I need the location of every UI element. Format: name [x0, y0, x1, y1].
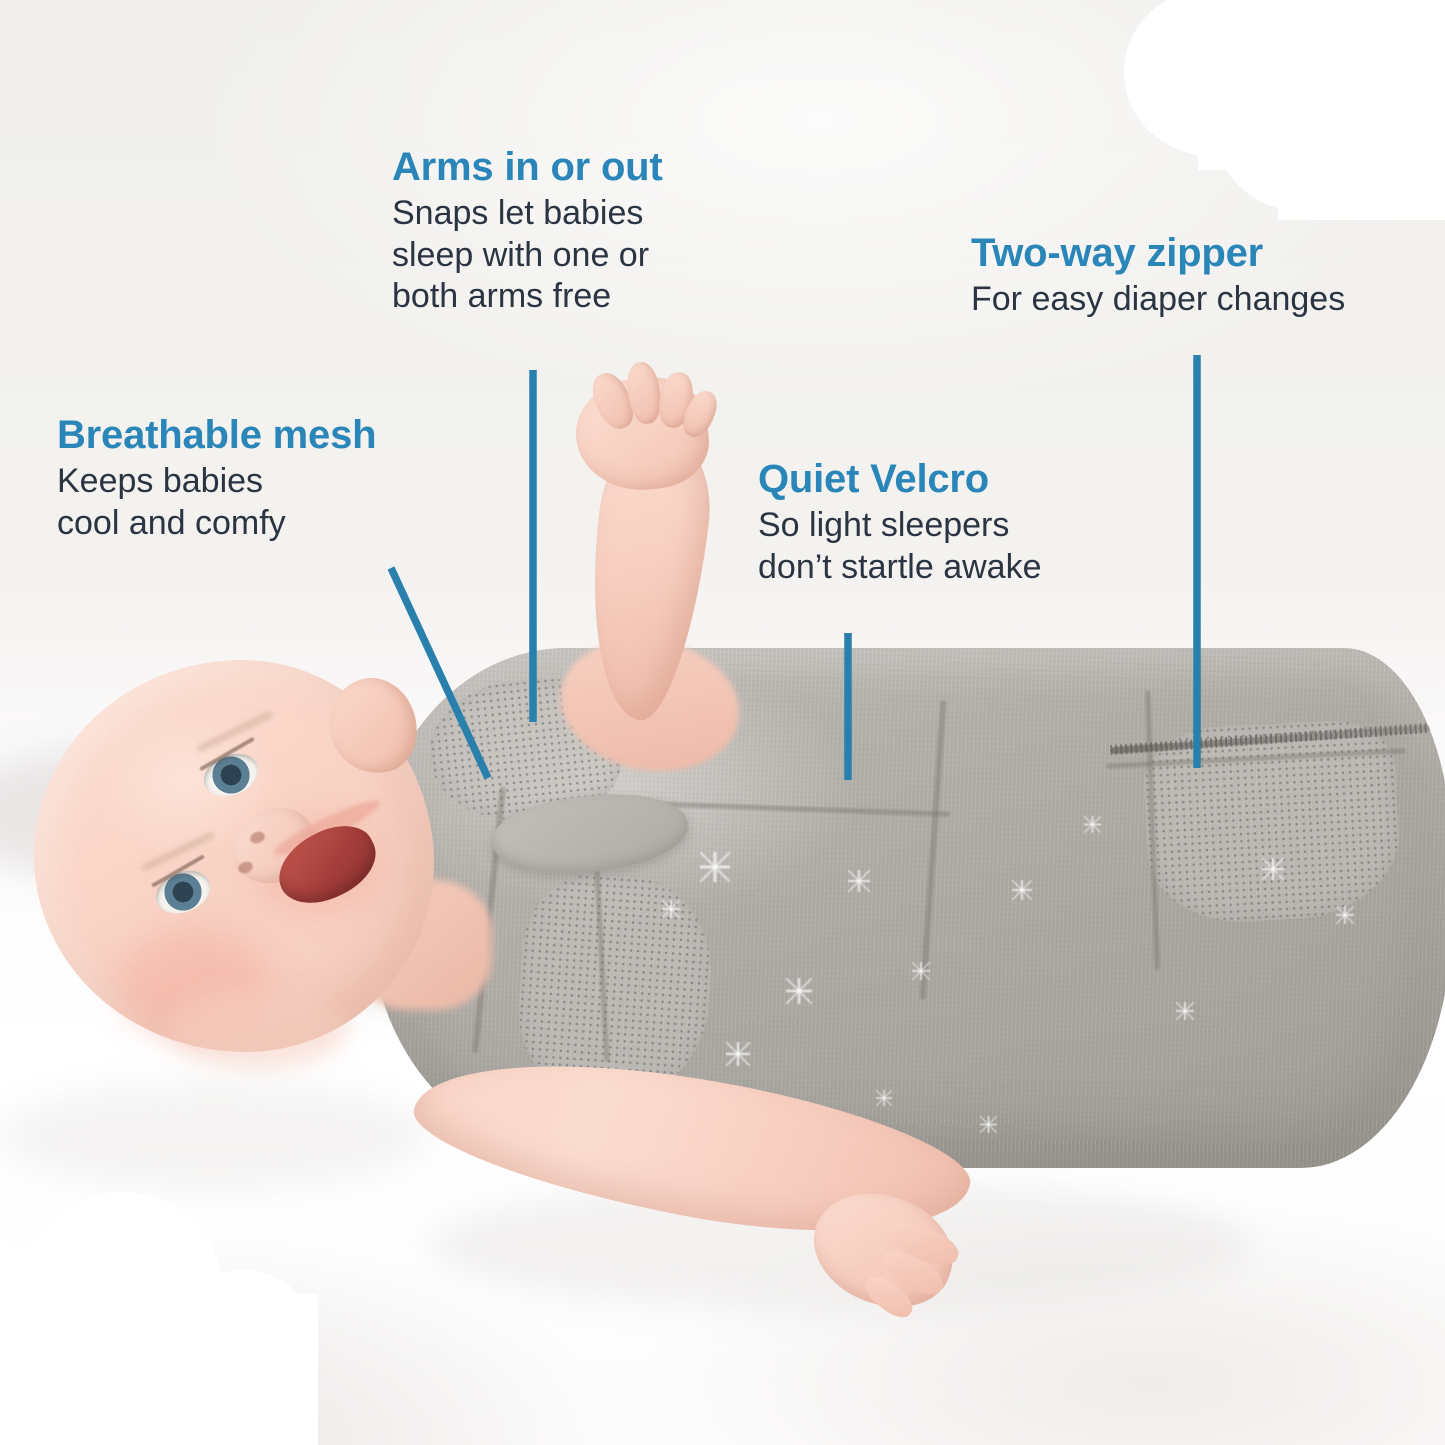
callout-body-line: don’t startle awake — [758, 547, 1042, 588]
callout-body-line: Keeps babies — [57, 461, 376, 502]
callout-body: Snaps let babies sleep with one or both … — [392, 193, 663, 317]
bedding-fold — [0, 1080, 430, 1190]
callout-body-line: both arms free — [392, 276, 663, 317]
callout-two-way-zipper: Two-way zipper For easy diaper changes — [971, 232, 1345, 321]
callout-body: So light sleepers don’t startle awake — [758, 505, 1042, 588]
callout-body-line: For easy diaper changes — [971, 279, 1345, 320]
callout-quiet-velcro: Quiet Velcro So light sleepers don’t sta… — [758, 458, 1042, 588]
callout-title: Two-way zipper — [971, 232, 1345, 275]
callout-body-line: sleep with one or — [392, 235, 663, 276]
callout-title: Arms in or out — [392, 146, 663, 189]
callout-body: For easy diaper changes — [971, 279, 1345, 320]
callout-body-line: cool and comfy — [57, 503, 376, 544]
callout-title: Breathable mesh — [57, 414, 376, 457]
callout-title: Quiet Velcro — [758, 458, 1042, 501]
product-photo — [0, 0, 1445, 1445]
callout-body: Keeps babies cool and comfy — [57, 461, 376, 544]
callout-arms-in-or-out: Arms in or out Snaps let babies sleep wi… — [392, 146, 663, 318]
baby-chin — [168, 988, 348, 1068]
callout-body-line: So light sleepers — [758, 505, 1042, 546]
callout-body-line: Snaps let babies — [392, 193, 663, 234]
callout-breathable-mesh: Breathable mesh Keeps babies cool and co… — [57, 414, 376, 544]
infographic-canvas: Breathable mesh Keeps babies cool and co… — [0, 0, 1445, 1445]
